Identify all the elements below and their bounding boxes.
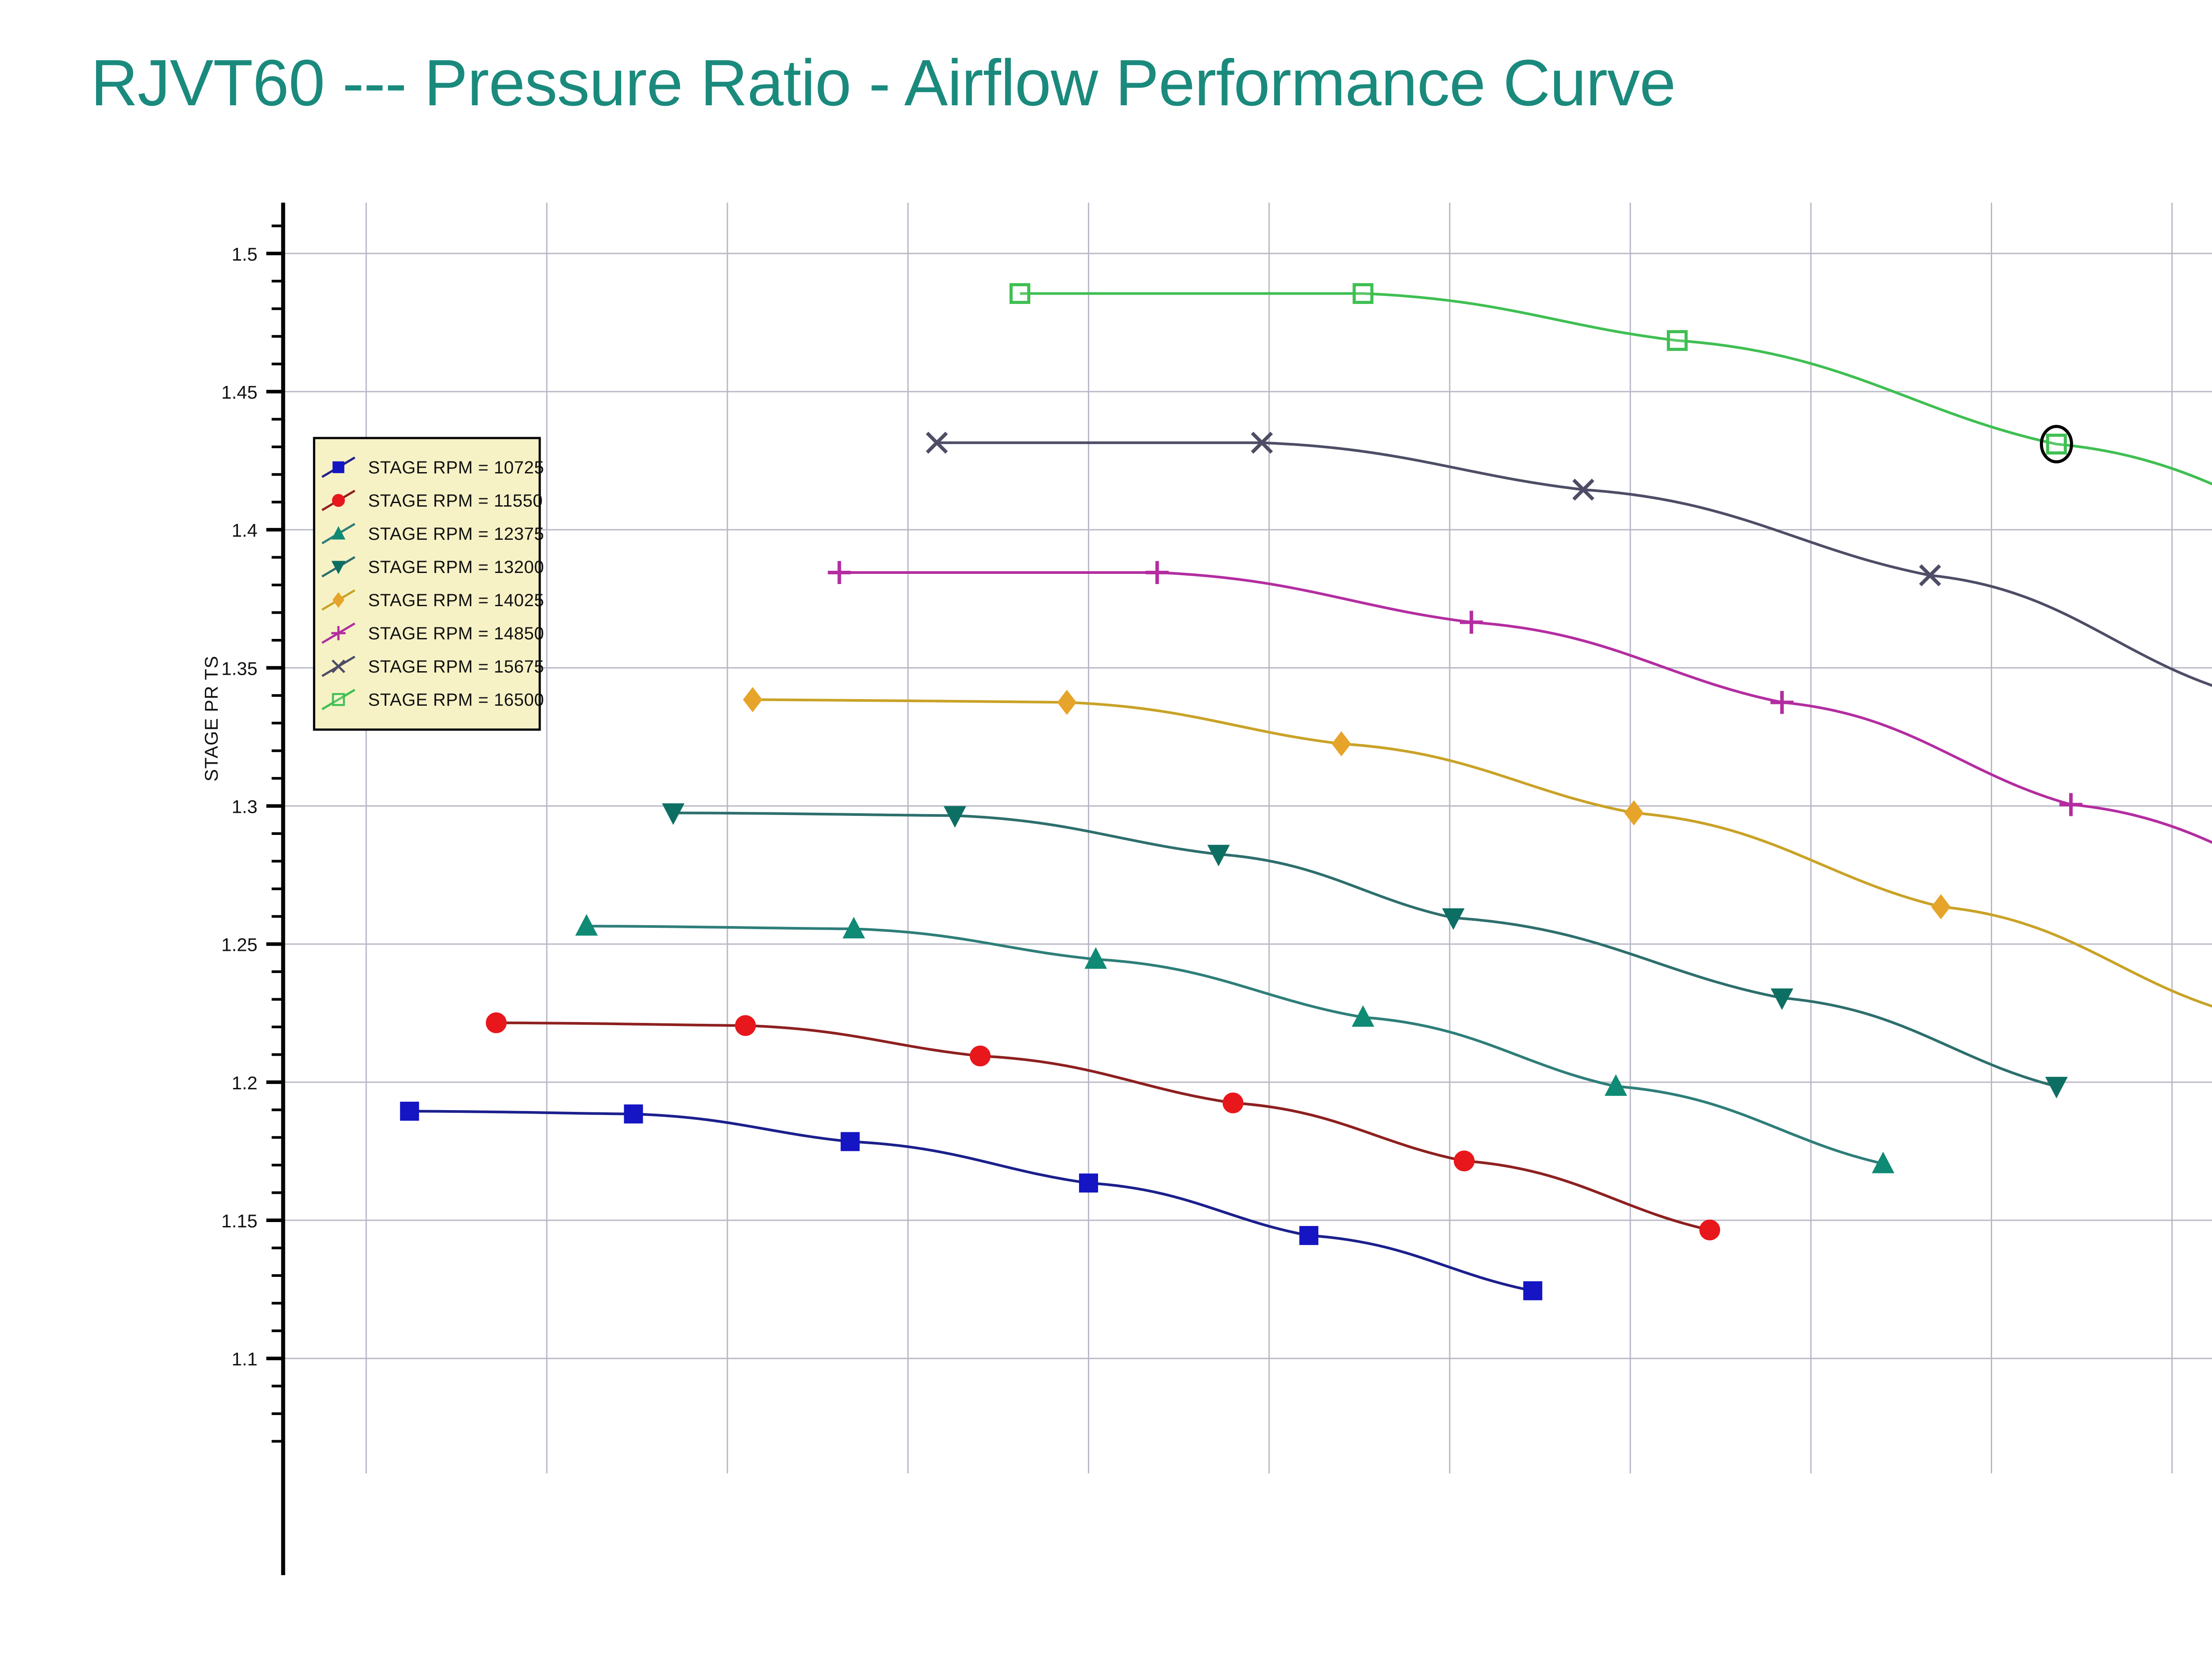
marker-circle-filled	[1700, 1220, 1720, 1240]
series-16500[interactable]	[1011, 284, 2212, 730]
legend[interactable]: STAGE RPM = 10725STAGE RPM = 11550STAGE …	[314, 438, 544, 730]
series-12375[interactable]	[576, 915, 1893, 1173]
marker-circle-filled	[332, 494, 344, 506]
series-line-16500[interactable]	[1020, 293, 2212, 722]
marker-plus	[828, 561, 851, 584]
marker-square-open	[2047, 435, 2065, 453]
marker-diamond	[1333, 732, 1350, 755]
series-line-11550[interactable]	[496, 1023, 1710, 1230]
marker-plus	[1146, 561, 1169, 584]
y-tick-label: 1.35	[221, 658, 257, 679]
legend-label: STAGE RPM = 11550	[368, 491, 543, 511]
legend-background	[314, 438, 540, 730]
legend-label: STAGE RPM = 14025	[368, 591, 544, 610]
marker-square-filled	[1524, 1282, 1542, 1299]
marker-square-filled	[401, 1102, 419, 1120]
marker-diamond	[1625, 801, 1643, 824]
legend-label: STAGE RPM = 14850	[368, 624, 544, 643]
chart-svg[interactable]: 1.11.151.21.251.31.351.41.451.5303540455…	[0, 190, 2212, 1575]
y-tick-label: 1.15	[221, 1211, 257, 1231]
marker-circle-filled	[1455, 1151, 1474, 1171]
marker-plus	[1460, 611, 1483, 634]
y-tick-label: 1.2	[232, 1073, 257, 1093]
y-tick-label: 1.5	[232, 244, 257, 265]
y-axis-title: STAGE PR TS	[201, 656, 222, 782]
series-10725[interactable]	[401, 1102, 1542, 1299]
series-14850[interactable]	[828, 561, 2212, 932]
series-line-14025[interactable]	[753, 700, 2212, 1012]
marker-square-open	[333, 694, 344, 705]
series-line-10725[interactable]	[410, 1111, 1533, 1291]
y-tick-label: 1.4	[232, 520, 257, 541]
marker-plus	[2059, 793, 2082, 816]
axes-layer: 1.11.151.21.251.31.351.41.451.5303540455…	[221, 203, 2212, 1575]
marker-diamond	[1932, 895, 1950, 918]
marker-square-filled	[1080, 1174, 1098, 1192]
marker-plus	[1770, 691, 1793, 714]
marker-triangle-down	[2046, 1077, 2066, 1097]
series-11550[interactable]	[487, 1013, 1720, 1240]
marker-square-filled	[841, 1133, 859, 1150]
marker-square-filled	[625, 1105, 642, 1123]
y-tick-label: 1.1	[232, 1349, 257, 1369]
slide-canvas: RJVT60 --- Pressure Ratio - Airflow Perf…	[0, 0, 2212, 1680]
marker-square-filled	[1300, 1226, 1318, 1244]
marker-circle-filled	[487, 1013, 506, 1033]
legend-label: STAGE RPM = 15675	[368, 657, 544, 677]
series-line-13200[interactable]	[673, 813, 2057, 1086]
legend-label: STAGE RPM = 16500	[368, 690, 544, 710]
series-layer[interactable]	[401, 284, 2212, 1299]
series-13200[interactable]	[663, 804, 2067, 1097]
series-15675[interactable]	[927, 433, 2212, 834]
legend-label: STAGE RPM = 10725	[368, 458, 544, 477]
grid-layer	[283, 203, 2212, 1473]
marker-square-open	[1011, 284, 1029, 302]
series-line-12375[interactable]	[587, 926, 1883, 1164]
marker-circle-filled	[1223, 1093, 1243, 1113]
series-line-14850[interactable]	[839, 573, 2212, 921]
marker-diamond	[744, 688, 761, 711]
marker-circle-filled	[971, 1046, 990, 1066]
legend-label: STAGE RPM = 13200	[368, 557, 544, 577]
marker-square-open	[1354, 284, 1372, 302]
y-tick-label: 1.3	[232, 796, 257, 817]
marker-square-filled	[333, 462, 344, 473]
performance-chart[interactable]: 1.11.151.21.251.31.351.41.451.5303540455…	[0, 190, 2212, 1575]
y-tick-label: 1.45	[221, 382, 257, 403]
page-title: RJVT60 --- Pressure Ratio - Airflow Perf…	[91, 49, 1675, 117]
y-tick-label: 1.25	[221, 934, 257, 955]
marker-diamond	[1058, 691, 1076, 714]
marker-square-open	[1668, 332, 1686, 350]
legend-label: STAGE RPM = 12375	[368, 524, 544, 544]
marker-circle-filled	[736, 1016, 755, 1035]
